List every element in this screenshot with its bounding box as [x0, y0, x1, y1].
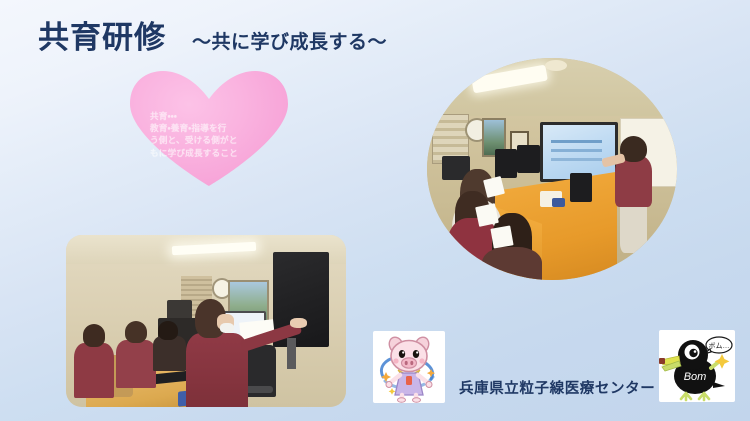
center-name-label: 兵庫県立粒子線医療センター	[459, 377, 655, 398]
photo2-seated-staff-body-3	[153, 336, 187, 370]
heart-definition-text: 共育・・・ 教育・養育・指導を行 う側と、受ける側がと もに学び成長すること	[150, 110, 274, 159]
title-block: 共育研修 〜共に学び成長する〜	[38, 22, 387, 53]
photo2-presenter-body	[186, 333, 248, 407]
photo-desk-item-blue	[552, 198, 565, 207]
bom-bird-mascot-logo: ボム… Bom	[659, 330, 735, 402]
photo2-monitor-arm	[287, 338, 295, 369]
page-subtitle: 〜共に学び成長する〜	[192, 33, 387, 52]
photo-handout-2	[475, 203, 499, 227]
photo2-presenter-hand	[290, 318, 307, 328]
bom-bird-mascot-icon: ボム… Bom	[659, 330, 735, 402]
page-title: 共育研修	[38, 22, 166, 53]
photo-handout-3	[490, 225, 513, 248]
photo-presenter-body	[615, 156, 653, 207]
heart-line-2: 教育・養育・指導を行	[150, 122, 274, 134]
photo-monitor-center	[495, 149, 518, 178]
bom-speech-text: ボム…	[709, 342, 730, 350]
photo-monitor-right	[517, 145, 540, 174]
photo-attendee-body-3	[482, 247, 542, 280]
heart-line-3: う側と、受ける側がと	[150, 134, 274, 146]
photo-laptop	[570, 173, 593, 202]
photo2-seated-staff-head-3	[158, 321, 178, 340]
slide-canvas: 共育研修 〜共に学び成長する〜 共育・・・ 教育・養育・指導を行 う側と、受ける…	[0, 0, 750, 421]
photo2-presenter-mask	[220, 323, 234, 333]
heart-line-1: 共育・・・	[150, 110, 274, 122]
photo2-seated-staff-head-1	[83, 324, 105, 346]
pig-mascot-icon	[373, 331, 445, 403]
heart-callout: 共育・・・ 教育・養育・指導を行 う側と、受ける側がと もに学び成長すること	[126, 68, 292, 188]
bom-label-text: Bom	[684, 371, 707, 383]
photo2-seated-staff-body-2	[116, 340, 155, 388]
heart-line-4: もに学び成長すること	[150, 147, 274, 159]
photo-handout-1	[483, 176, 504, 197]
photo2-chair-base	[245, 386, 273, 393]
photo-training-room-oval	[427, 58, 677, 280]
photo-training-room-rect	[66, 235, 346, 407]
photo2-seated-staff-body-1	[74, 343, 113, 398]
photo-presenter-legs	[620, 200, 648, 253]
pig-mascot-logo	[373, 331, 445, 403]
photo2-seated-staff-head-2	[125, 321, 147, 343]
